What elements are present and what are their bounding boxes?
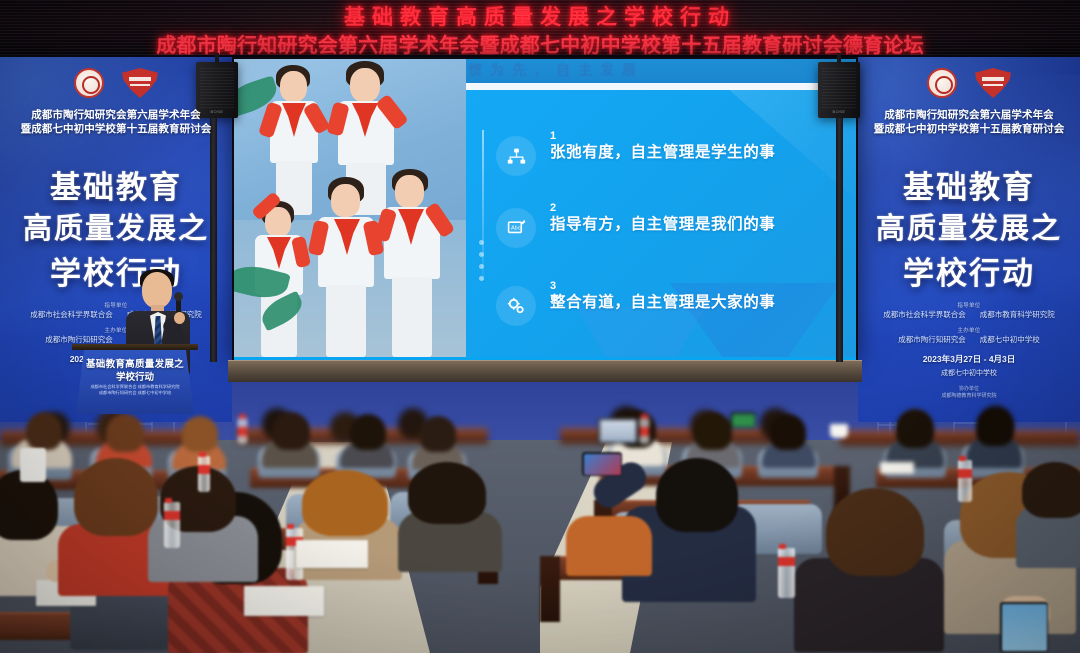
podium: 基础教育高质量发展之 学校行动 成都市社会科学界联合会 成都市教育科学研究院 成… bbox=[76, 348, 194, 414]
bullet-text: 指导有方，自主管理是我们的事 bbox=[550, 215, 775, 235]
water-bottle bbox=[778, 548, 795, 598]
bullet-number: 1 bbox=[550, 130, 775, 143]
banner-host-label: 主办单位 bbox=[0, 326, 232, 334]
banner-guide-orgs: 成都市社会科学界联合会 成都市教育科学研究院 bbox=[858, 309, 1080, 320]
banner-guide-label: 指导单位 bbox=[0, 301, 232, 309]
banner-logo-group-left bbox=[0, 63, 232, 103]
banner-title-line3: 学校行动 bbox=[0, 248, 232, 293]
banner-guide-label: 指导单位 bbox=[858, 301, 1080, 309]
shield-emblem-icon bbox=[122, 68, 158, 98]
podium-text-line2: 学校行动 bbox=[76, 369, 194, 383]
banner-support-label: 协办单位 bbox=[858, 385, 1080, 392]
conference-hall-scene: 基础教育高质量发展之学校行动 成都市陶行知研究会第六届学术年会暨成都七中初中学校… bbox=[0, 0, 1080, 653]
banner-subtitle-line2: 暨成都七中初中学校第十五届教育研讨会 bbox=[858, 121, 1080, 136]
screen-bezel bbox=[228, 360, 862, 382]
seal-emblem-icon bbox=[927, 68, 957, 98]
banner-title-line1: 基础教育 bbox=[858, 162, 1080, 207]
ceiling-speaker-right: BOSE bbox=[818, 62, 860, 118]
paper-sheet bbox=[880, 462, 914, 474]
presenter-hand bbox=[174, 312, 185, 324]
slide-bullet-2: Abc 2 指导有方，自主管理是我们的事 bbox=[496, 202, 775, 248]
banner-subtitle-line1: 成都市陶行知研究会第六届学术年会 bbox=[0, 107, 232, 122]
banner-logo-group-right bbox=[858, 63, 1080, 103]
water-bottle bbox=[164, 502, 180, 548]
slide-decor-dots bbox=[479, 240, 484, 288]
slide-title: 习惯为先，自主发展 bbox=[446, 60, 644, 80]
smartphone bbox=[730, 412, 756, 428]
paper-sheet bbox=[244, 586, 324, 616]
banner-subtitle-line1: 成都市陶行知研究会第六届学术年会 bbox=[858, 107, 1080, 122]
slide-photo bbox=[234, 59, 466, 357]
smartphone bbox=[582, 452, 622, 476]
gears-icon bbox=[496, 286, 536, 326]
water-bottle bbox=[238, 418, 247, 444]
org-chart-icon bbox=[496, 136, 536, 176]
svg-text:Abc: Abc bbox=[510, 225, 520, 231]
banner-venue: 成都七中初中学校 bbox=[858, 368, 1080, 378]
slide-bullet-1: 1 张弛有度，自主管理是学生的事 bbox=[496, 130, 775, 176]
led-banner-line2: 成都市陶行知研究会第六届学术年会暨成都七中初中学校第十五届教育研讨会德育论坛 bbox=[0, 29, 1080, 57]
presentation-screen: 习惯为先，自主发展 bbox=[232, 57, 858, 362]
slide-surface: 习惯为先，自主发展 bbox=[234, 59, 856, 360]
banner-title-line2: 高质量发展之 bbox=[858, 205, 1080, 247]
podium-fine-line2: 成都市陶行知研究会 成都七中初中学校 bbox=[76, 390, 194, 396]
bullet-text: 张弛有度，自主管理是学生的事 bbox=[550, 143, 775, 163]
seal-emblem-icon bbox=[74, 68, 104, 98]
water-bottle bbox=[640, 418, 649, 444]
smartphone bbox=[1000, 602, 1048, 652]
water-bottle bbox=[958, 460, 972, 502]
banner-host-orgs: 成都市陶行知研究会 成都七中初中学校 bbox=[858, 334, 1080, 345]
banner-guide-org2: 成都市教育科学研究院 bbox=[980, 309, 1055, 320]
banner-title-line2: 高质量发展之 bbox=[0, 205, 232, 247]
coffee-cup bbox=[20, 448, 46, 482]
student-figure bbox=[380, 169, 454, 357]
teacup bbox=[830, 424, 848, 438]
bullet-text: 整合有道，自主管理是大家的事 bbox=[550, 293, 775, 313]
led-header-banner: 基础教育高质量发展之学校行动 成都市陶行知研究会第六届学术年会暨成都七中初中学校… bbox=[0, 0, 1080, 57]
led-banner-line1: 基础教育高质量发展之学校行动 bbox=[0, 1, 1080, 31]
bullet-number: 3 bbox=[550, 280, 775, 293]
banner-organizer-org: 成都七中初中学校 bbox=[980, 334, 1040, 345]
speaker-pole-right bbox=[836, 118, 843, 362]
podium-fine-print: 成都市社会科学界联合会 成都市教育科学研究院 成都市陶行知研究会 成都七中初中学… bbox=[76, 384, 194, 396]
banner-support-org: 成都陶德教育科学研究院 bbox=[858, 392, 1080, 399]
banner-subtitle-line2: 暨成都七中初中学校第十五届教育研讨会 bbox=[0, 121, 232, 136]
podium-text-line1: 基础教育高质量发展之 bbox=[76, 356, 194, 370]
paper-sheet bbox=[296, 540, 368, 568]
bullet-number: 2 bbox=[550, 202, 775, 215]
podium-top bbox=[72, 344, 198, 350]
water-bottle bbox=[198, 456, 210, 492]
student-figure bbox=[312, 177, 386, 357]
banner-title-line1: 基础教育 bbox=[0, 162, 232, 207]
banner-title-line3: 学校行动 bbox=[858, 248, 1080, 293]
banner-guide-org1: 成都市社会科学界联合会 bbox=[883, 309, 966, 320]
laptop bbox=[598, 418, 638, 444]
slide-bullet-3: 3 整合有道，自主管理是大家的事 bbox=[496, 280, 775, 326]
banner-date: 2023年3月27日 - 4月3日 bbox=[858, 353, 1080, 365]
banner-guide-org1: 成都市社会科学界联合会 bbox=[30, 309, 113, 320]
side-banner-right: 成都市陶行知研究会第六届学术年会 暨成都七中初中学校第十五届教育研讨会 基础教育… bbox=[858, 57, 1080, 422]
presenter-head bbox=[142, 272, 172, 308]
shield-emblem-icon bbox=[975, 68, 1011, 98]
presentation-board-icon: Abc bbox=[496, 208, 536, 248]
banner-host-label: 主办单位 bbox=[858, 326, 1080, 334]
banner-guide-orgs: 成都市社会科学界联合会 成都市教育科学研究院 bbox=[0, 309, 232, 320]
slide-content: 1 张弛有度，自主管理是学生的事 Abc 2 指导有方，自主管理是我们的事 bbox=[466, 90, 856, 357]
banner-host-org: 成都市陶行知研究会 bbox=[898, 334, 966, 345]
